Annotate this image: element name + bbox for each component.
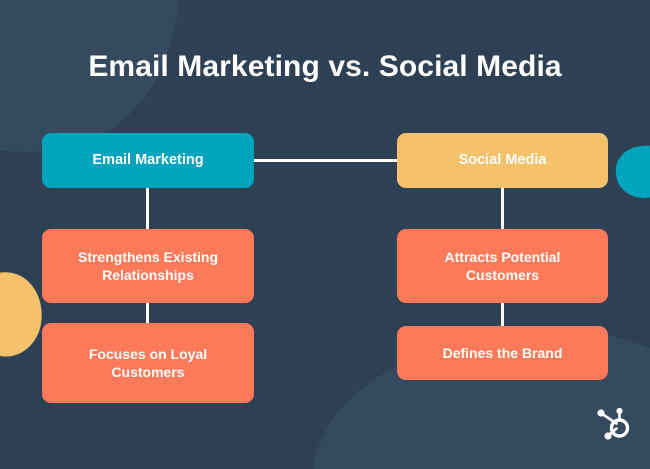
blob-yellow-left-edge-shape — [0, 267, 47, 361]
node-strengthens-existing-relationships[interactable]: Strengthens Existing Relationships — [42, 229, 254, 303]
hubspot-sprocket-logo — [594, 406, 632, 444]
infographic-canvas: Email Marketing vs. Social Media Email M… — [0, 0, 650, 469]
node-email-marketing-heading[interactable]: Email Marketing — [42, 133, 254, 188]
blob-teal-right-edge-shape — [613, 143, 650, 201]
node-focuses-on-loyal-customers[interactable]: Focuses on Loyal Customers — [42, 323, 254, 403]
node-attracts-potential-customers[interactable]: Attracts Potential Customers — [397, 229, 608, 303]
connector-social-media-to-point-1 — [501, 186, 504, 230]
node-defines-the-brand[interactable]: Defines the Brand — [397, 326, 608, 380]
page-title: Email Marketing vs. Social Media — [0, 50, 650, 83]
connector-email-marketing-to-point-1 — [146, 186, 149, 230]
connector-social-media-point-1-to-point-2 — [501, 301, 504, 327]
node-social-media-heading[interactable]: Social Media — [397, 133, 608, 188]
connector-email-marketing-point-1-to-point-2 — [146, 301, 149, 324]
connector-between-headings — [253, 159, 399, 162]
